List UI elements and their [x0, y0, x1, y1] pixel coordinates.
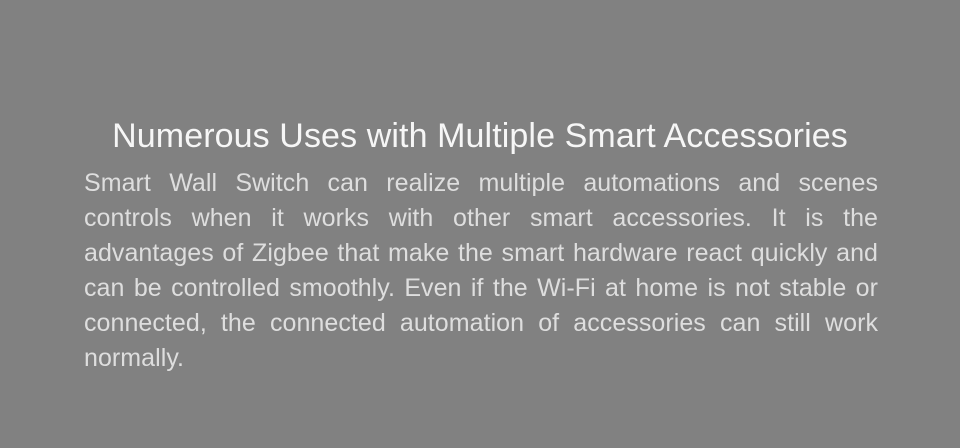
description-paragraph: Smart Wall Switch can realize multiple a…: [84, 166, 878, 376]
page-title: Numerous Uses with Multiple Smart Access…: [0, 115, 960, 157]
promo-panel: Numerous Uses with Multiple Smart Access…: [0, 0, 960, 448]
